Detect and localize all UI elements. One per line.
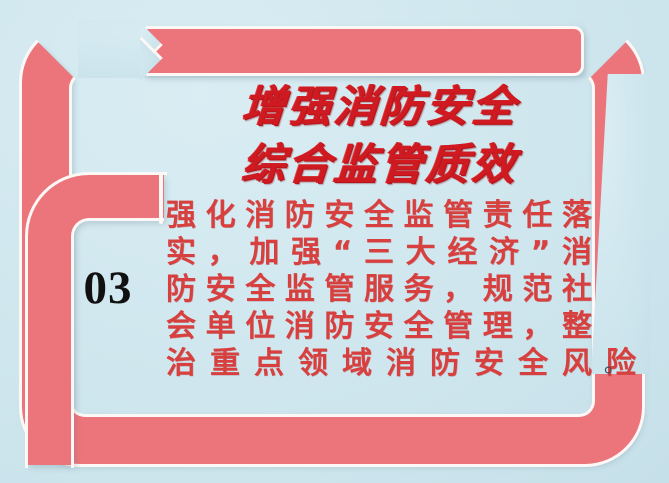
body-char: 安 [324,197,354,234]
body-char: 监 [404,197,434,234]
body-char: ， [443,271,473,308]
body-char: 责 [483,197,513,234]
body-paragraph: 强化消防安全监管责任落 实，加强“三大经济”消 防安全监管服务，规范社 会单位消… [166,197,592,382]
body-char: 服 [364,271,394,308]
body-char: 消 [285,308,315,345]
body-line-1: 强化消防安全监管责任落 [166,197,592,234]
body-char: 消 [562,234,592,271]
inner-ribbon-outline-inner [71,218,164,468]
body-char: 全 [364,197,394,234]
body-char: 范 [522,271,552,308]
body-char: 消 [245,197,275,234]
body-char: 点 [254,345,284,382]
title-line-1: 增强消防安全 [188,78,572,136]
body-line-2: 实，加强“三大经济”消 [166,234,592,271]
body-char: 全 [518,345,548,382]
body-char: ， [208,234,238,271]
body-char: 领 [298,345,328,382]
body-char: 强 [291,234,321,271]
body-char: 监 [285,271,315,308]
top-ribbon-bar [144,26,584,76]
body-char: ， [522,308,552,345]
body-char: 风 [562,345,592,382]
body-line-3: 防安全监管服务，规范社 [166,271,592,308]
body-char: 管 [443,197,473,234]
body-char: 全 [245,271,275,308]
body-char: 化 [206,197,236,234]
body-char: 消 [386,345,416,382]
body-char: 三 [364,234,394,271]
body-char: 落 [562,197,592,234]
body-char: 务 [404,271,434,308]
body-char: 管 [443,308,473,345]
body-char: 安 [206,271,236,308]
body-char: 安 [364,308,394,345]
body-char: 防 [166,271,196,308]
body-line-5: 治重点领域消防安全风险 [166,345,592,382]
poster-canvas: 03 增强消防安全 综合监管质效 强化消防安全监管责任落 实，加强“三大经济”消… [0,0,669,483]
body-char: 防 [430,345,460,382]
body-char: 防 [285,197,315,234]
body-char: 加 [249,234,279,271]
title-line-2: 综合监管质效 [188,136,572,194]
body-char: 域 [342,345,372,382]
body-line-4: 会单位消防安全管理，整 [166,308,592,345]
body-char: 防 [324,308,354,345]
inner-ribbon-end-cap [159,172,163,224]
title-block: 增强消防安全 综合监管质效 [190,78,570,194]
body-char: ” [531,234,551,271]
body-char: 全 [404,308,434,345]
ribbon-tail-notch-icon [140,22,170,80]
body-end-punctuation: 。 [604,355,626,377]
body-char: 安 [474,345,504,382]
body-char: 济 [489,234,519,271]
body-char: “ [333,234,353,271]
body-char: 社 [562,271,592,308]
body-char: 位 [245,308,275,345]
body-char: 治 [166,345,196,382]
body-char: 重 [210,345,240,382]
body-char: 管 [324,271,354,308]
body-char: 会 [166,308,196,345]
body-char: 实 [166,234,196,271]
section-number: 03 [58,265,158,312]
body-char: 任 [522,197,552,234]
body-char: 单 [206,308,236,345]
body-char: 强 [166,197,196,234]
body-char: 大 [406,234,436,271]
body-char: 整 [562,308,592,345]
body-char: 理 [483,308,513,345]
body-char: 规 [483,271,513,308]
body-char: 经 [447,234,477,271]
